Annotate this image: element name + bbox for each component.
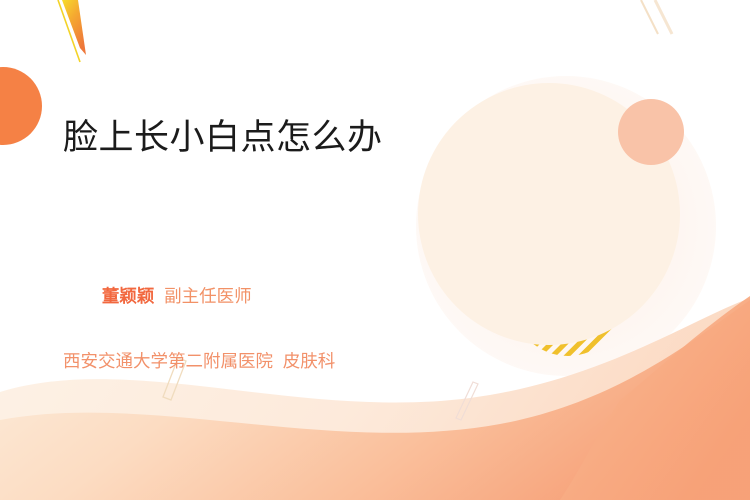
doctor-name: 董颖颖	[102, 286, 155, 306]
page-title: 脸上长小白点怎么办	[63, 116, 413, 161]
text-layer: 脸上长小白点怎么办 董颖颖 副主任医师 西安交通大学第二附属医院 皮肤科	[0, 0, 750, 500]
doctor-rank: 副主任医师	[154, 286, 251, 306]
doctor-affiliation: 西安交通大学第二附属医院 皮肤科	[63, 345, 483, 377]
video-cover-card: 脸上长小白点怎么办 董颖颖 副主任医师 西安交通大学第二附属医院 皮肤科	[0, 0, 750, 500]
doctor-credentials: 董颖颖 副主任医师 西安交通大学第二附属医院 皮肤科	[63, 248, 483, 378]
doctor-name-line: 董颖颖 副主任医师	[63, 248, 483, 345]
